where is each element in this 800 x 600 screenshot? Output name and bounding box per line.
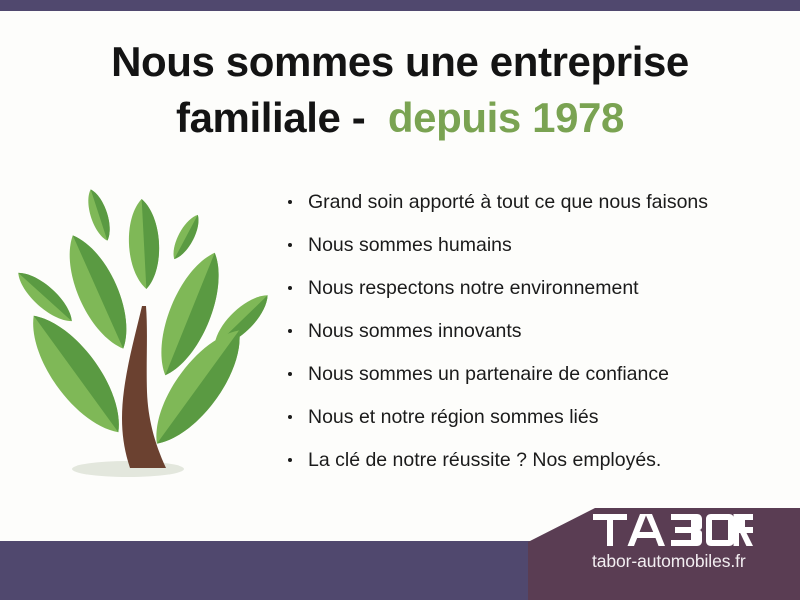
brand-logo-panel[interactable]: tabor-automobiles.fr — [528, 506, 800, 600]
page-title-line-2-plain: familiale - — [176, 94, 365, 141]
list-item: Nous et notre région sommes liés — [286, 407, 756, 428]
leaf-top-small-left — [83, 187, 115, 243]
list-item: Nous sommes humains — [286, 235, 756, 256]
list-item: La clé de notre réussite ? Nos employés. — [286, 450, 756, 471]
list-item: Nous sommes un partenaire de confiance — [286, 364, 756, 385]
slide-canvas: Nous sommes une entreprise familiale - d… — [0, 0, 800, 600]
bullet-dot-icon — [288, 329, 292, 333]
list-item: Grand soin apporté à tout ce que nous fa… — [286, 192, 756, 213]
bullet-dot-icon — [288, 415, 292, 419]
leaf-far-left-small — [18, 265, 79, 329]
bullet-dot-icon — [288, 286, 292, 290]
list-item-label: Nous sommes humains — [308, 234, 512, 256]
list-item-label: Nous respectons notre environnement — [308, 277, 639, 299]
tree-illustration — [18, 182, 270, 484]
list-item-label: Nous sommes innovants — [308, 320, 522, 342]
page-title-accent: depuis 1978 — [388, 94, 624, 141]
tabor-wordmark-icon — [593, 514, 753, 546]
page-title-line-2: familiale - depuis 1978 — [0, 90, 800, 146]
page-title-line-1: Nous sommes une entreprise — [0, 34, 800, 90]
bullet-dot-icon — [288, 458, 292, 462]
value-list: Grand soin apporté à tout ce que nous fa… — [286, 192, 756, 471]
bullet-dot-icon — [288, 200, 292, 204]
list-item-label: Nous et notre région sommes liés — [308, 406, 598, 428]
leaf-top-small-right — [168, 211, 205, 262]
bullet-dot-icon — [288, 243, 292, 247]
list-item: Nous respectons notre environnement — [286, 278, 756, 299]
list-item-label: Nous sommes un partenaire de confiance — [308, 363, 669, 385]
ground-shadow — [72, 461, 184, 477]
bullet-dot-icon — [288, 372, 292, 376]
list-item-label: La clé de notre réussite ? Nos employés. — [308, 449, 661, 471]
list-item: Nous sommes innovants — [286, 321, 756, 342]
top-accent-band — [0, 0, 800, 11]
list-item-label: Grand soin apporté à tout ce que nous fa… — [308, 191, 708, 213]
logo-content: tabor-automobiles.fr — [528, 506, 800, 600]
leaf-top-center — [127, 198, 162, 289]
tree-trunk — [122, 306, 166, 468]
logo-website-url: tabor-automobiles.fr — [592, 551, 792, 572]
page-title: Nous sommes une entreprise familiale - d… — [0, 34, 800, 146]
